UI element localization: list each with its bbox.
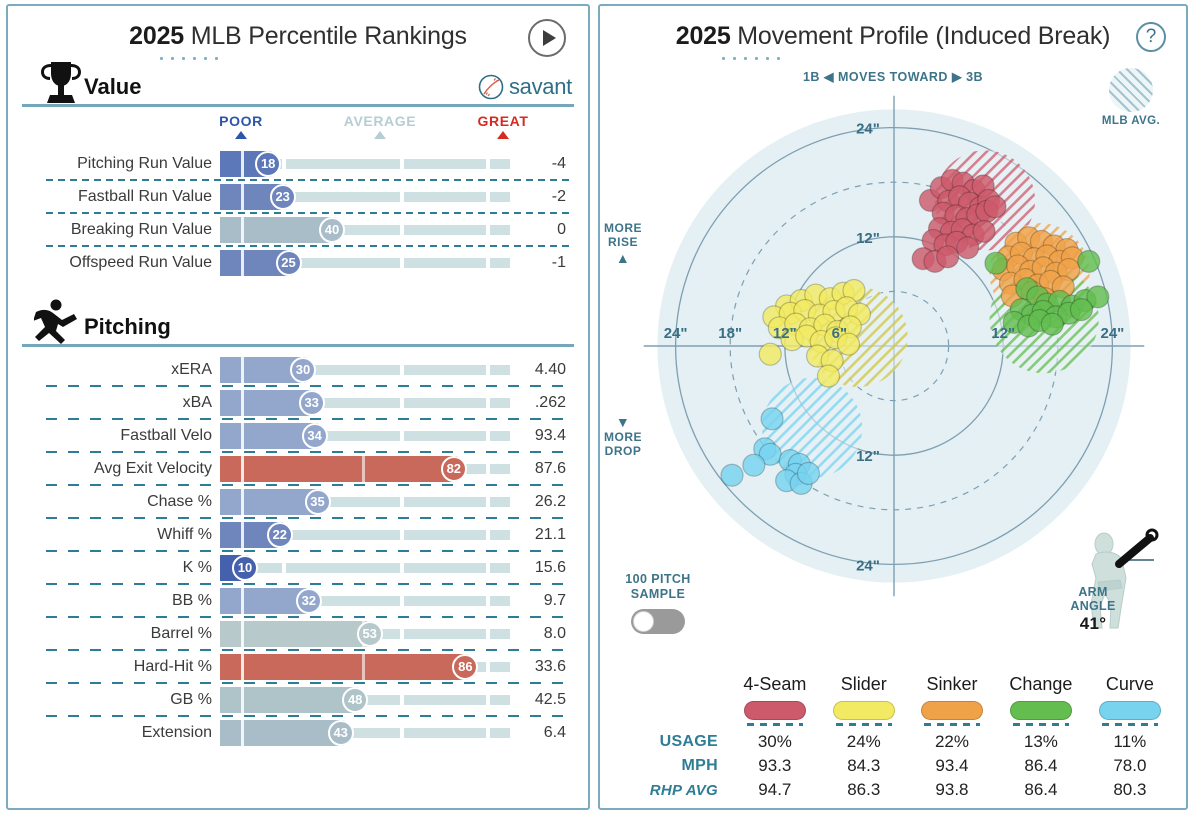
left-panel-header: 2025 MLB Percentile Rankings (8, 6, 588, 61)
metric-bar: 23 (220, 184, 510, 210)
percentile-badge: 40 (319, 217, 345, 243)
metric-value: 0 (510, 221, 574, 239)
right-arrow-icon: ▶ (952, 70, 962, 84)
svg-text:12": 12" (856, 230, 880, 247)
metric-bar: 22 (220, 522, 510, 548)
metric-label: xBA (8, 394, 220, 412)
movement-scatter-plot[interactable]: 24"18"12"6"12"24"24"12"12"24" MORERISE▲ … (600, 84, 1188, 644)
scale-label-poor: POOR (196, 113, 286, 139)
legend-color-chips-row (612, 699, 1174, 730)
metric-row[interactable]: Whiff %2221.1 (8, 518, 574, 551)
pitch-color-chip[interactable] (744, 701, 806, 720)
metric-bar: 43 (220, 720, 510, 746)
svg-text:24": 24" (856, 121, 880, 138)
legend-rhp_avg-cell: 93.8 (908, 778, 996, 802)
pitch-color-chip[interactable] (921, 701, 983, 720)
bar-fill (220, 720, 345, 746)
player-card: 2025 MLB Percentile Rankings Value (0, 0, 1200, 814)
metric-label: Whiff % (8, 526, 220, 544)
legend-mph-cell: 86.4 (996, 754, 1086, 778)
percentile-badge: 30 (290, 357, 316, 383)
metric-bar: 48 (220, 687, 510, 713)
metric-label: Offspeed Run Value (8, 254, 220, 272)
metric-bar: 35 (220, 489, 510, 515)
movement-title: 2025 Movement Profile (Induced Break) (600, 22, 1186, 51)
legend-chip-cell (730, 699, 820, 730)
percentile-badge: 25 (276, 250, 302, 276)
pitch-sample-label: 100 PITCHSAMPLE (606, 572, 710, 603)
legend-mph-cell: 84.3 (820, 754, 908, 778)
percentile-badge: 53 (357, 621, 383, 647)
percentile-badge: 18 (255, 151, 281, 177)
svg-text:18": 18" (718, 325, 742, 342)
scale-label-great: GREAT (458, 113, 548, 139)
legend-row-header: MPH (612, 754, 730, 778)
metric-value: .262 (510, 394, 574, 412)
great-marker-icon (497, 131, 509, 139)
metric-value: -2 (510, 188, 574, 206)
svg-text:6": 6" (832, 325, 847, 342)
chip-dash-divider (924, 723, 980, 726)
legend-pitch-names-row: 4-SeamSliderSinkerChangeCurve (612, 672, 1174, 699)
metric-bar: 82 (220, 456, 510, 482)
chip-dash-divider (1102, 723, 1158, 726)
percentile-badge: 10 (232, 555, 258, 581)
svg-text:24": 24" (1101, 325, 1125, 342)
metric-row[interactable]: Offspeed Run Value25-1 (8, 246, 574, 279)
play-animation-button[interactable] (528, 19, 566, 57)
percentile-badge: 43 (328, 720, 354, 746)
metric-label: Breaking Run Value (8, 221, 220, 239)
third-base-label: 3B (966, 70, 983, 84)
scale-label-average: AVERAGE (335, 113, 425, 139)
metric-value: 42.5 (510, 691, 574, 709)
metric-row[interactable]: Pitching Run Value18-4 (8, 147, 574, 180)
help-button[interactable]: ? (1136, 22, 1166, 52)
poor-marker-icon (235, 131, 247, 139)
legend-usage-cell: 11% (1086, 730, 1174, 754)
metric-bar: 53 (220, 621, 510, 647)
title-year: 2025 (129, 22, 184, 50)
metric-value: 9.7 (510, 592, 574, 610)
svg-text:24": 24" (856, 557, 880, 574)
legend-pitch-name: Curve (1086, 672, 1174, 699)
legend-mph-row: MPH93.384.393.486.478.0 (612, 754, 1174, 778)
legend-usage-row: USAGE30%24%22%13%11% (612, 730, 1174, 754)
metric-value: 33.6 (510, 658, 574, 676)
metric-bar: 10 (220, 555, 510, 581)
legend-chip-cell (908, 699, 996, 730)
legend-usage-cell: 13% (996, 730, 1086, 754)
metric-bar: 40 (220, 217, 510, 243)
section-header-pitching: Pitching (22, 301, 574, 347)
metric-value: 93.4 (510, 427, 574, 445)
savant-logo: savant (478, 74, 572, 100)
metric-value: 4.40 (510, 361, 574, 379)
legend-usage-cell: 22% (908, 730, 996, 754)
percentile-badge: 35 (305, 489, 331, 515)
metric-bar: 34 (220, 423, 510, 449)
metric-row[interactable]: Breaking Run Value400 (8, 213, 574, 246)
legend-chip-cell (996, 699, 1086, 730)
metric-row[interactable]: Fastball Velo3493.4 (8, 419, 574, 452)
more-drop-label: ▼MOREDROP (604, 414, 642, 458)
metric-label: Barrel % (8, 625, 220, 643)
page-title: 2025 MLB Percentile Rankings (8, 22, 588, 51)
metric-row[interactable]: Avg Exit Velocity8287.6 (8, 452, 574, 485)
legend-mph-cell: 93.4 (908, 754, 996, 778)
metric-row[interactable]: xERA304.40 (8, 353, 574, 386)
metric-label: Extension (8, 724, 220, 742)
chip-dash-divider (836, 723, 892, 726)
more-rise-label: MORERISE▲ (604, 222, 642, 266)
bar-track (220, 563, 510, 573)
baseball-icon (478, 74, 504, 100)
metric-label: BB % (8, 592, 220, 610)
pitch-color-chip[interactable] (1099, 701, 1161, 720)
section-title-value: Value (84, 74, 141, 104)
legend-mph-cell: 93.3 (730, 754, 820, 778)
legend-usage-cell: 30% (730, 730, 820, 754)
metric-bar: 33 (220, 390, 510, 416)
arm-angle-figure: ARMANGLE41° (1062, 520, 1182, 640)
movement-title-dots-decoration (718, 56, 788, 61)
legend-chip-rowhdr (612, 699, 730, 730)
metric-value: -4 (510, 155, 574, 173)
title-text: MLB Percentile Rankings (184, 22, 467, 50)
legend-mph-cell: 78.0 (1086, 754, 1174, 778)
metric-label: Fastball Velo (8, 427, 220, 445)
metric-value: 8.0 (510, 625, 574, 643)
metric-row[interactable]: Hard-Hit %8633.6 (8, 650, 574, 683)
toggle-knob (633, 611, 654, 632)
metric-value: 21.1 (510, 526, 574, 544)
metric-row[interactable]: Chase %3526.2 (8, 485, 574, 518)
first-base-label: 1B (803, 70, 820, 84)
percentile-badge: 86 (452, 654, 478, 680)
legend-chip-cell (820, 699, 908, 730)
legend-rhp_avg-cell: 94.7 (730, 778, 820, 802)
metric-row[interactable]: GB %4842.5 (8, 683, 574, 716)
metric-row[interactable]: Fastball Run Value23-2 (8, 180, 574, 213)
pitch-color-chip[interactable] (1010, 701, 1072, 720)
metric-row[interactable]: K %1015.6 (8, 551, 574, 584)
legend-pitch-name: Sinker (908, 672, 996, 699)
movement-profile-panel: 2025 Movement Profile (Induced Break) ? … (598, 4, 1188, 810)
percentile-badge: 34 (302, 423, 328, 449)
legend-pitch-name: Change (996, 672, 1086, 699)
metric-row[interactable]: xBA33.262 (8, 386, 574, 419)
pitcher-icon (34, 296, 88, 348)
legend-usage-cell: 24% (820, 730, 908, 754)
section-title-pitching: Pitching (84, 314, 171, 344)
legend-rhp-avg-row: RHP AVG94.786.393.886.480.3 (612, 778, 1174, 802)
pitch-legend-table: 4-SeamSliderSinkerChangeCurve USAGE30%24… (600, 672, 1186, 802)
legend-rhp_avg-cell: 86.3 (820, 778, 908, 802)
moves-toward-text: MOVES TOWARD (838, 70, 948, 84)
metric-label: xERA (8, 361, 220, 379)
metric-bar: 25 (220, 250, 510, 276)
legend-pitch-name: Slider (820, 672, 908, 699)
legend-chip-cell (1086, 699, 1174, 730)
svg-text:12": 12" (991, 325, 1015, 342)
movement-title-text: Movement Profile (Induced Break) (731, 22, 1111, 50)
chip-dash-divider (747, 723, 803, 726)
movement-title-year: 2025 (676, 22, 731, 50)
metric-label: K % (8, 559, 220, 577)
percentile-rankings-panel: 2025 MLB Percentile Rankings Value (6, 4, 590, 810)
pitch-sample-toggle-group[interactable]: 100 PITCHSAMPLE (606, 572, 710, 634)
svg-text:12": 12" (773, 325, 797, 342)
bar-fill (220, 687, 359, 713)
bar-fill (220, 621, 374, 647)
percentile-badge: 22 (267, 522, 293, 548)
legend-row-header: RHP AVG (612, 778, 730, 802)
percentile-badge: 23 (270, 184, 296, 210)
legend-rhp_avg-cell: 86.4 (996, 778, 1086, 802)
legend-rhp_avg-cell: 80.3 (1086, 778, 1174, 802)
metric-label: Avg Exit Velocity (8, 460, 220, 478)
percentile-badge: 82 (441, 456, 467, 482)
legend-corner-cell (612, 672, 730, 699)
metric-value: 6.4 (510, 724, 574, 742)
bar-fill (220, 456, 458, 482)
metric-label: GB % (8, 691, 220, 709)
metric-label: Chase % (8, 493, 220, 511)
legend-row-header: USAGE (612, 730, 730, 754)
percentile-scale-legend: POOR AVERAGE GREAT (8, 113, 574, 147)
percentile-badge: 48 (342, 687, 368, 713)
section-header-value: Value savant (22, 61, 574, 107)
percentile-badge: 33 (299, 390, 325, 416)
metric-label: Fastball Run Value (8, 188, 220, 206)
trophy-icon (34, 56, 88, 108)
left-arrow-icon: ◀ (824, 70, 834, 84)
metric-row[interactable]: BB %329.7 (8, 584, 574, 617)
average-marker-icon (374, 131, 386, 139)
metric-value: 26.2 (510, 493, 574, 511)
chip-dash-divider (1013, 723, 1069, 726)
percentile-badge: 32 (296, 588, 322, 614)
arm-angle-value: 41° (1062, 614, 1124, 634)
value-metric-list: Pitching Run Value18-4Fastball Run Value… (8, 147, 588, 279)
savant-wordmark: savant (509, 74, 572, 100)
metric-bar: 18 (220, 151, 510, 177)
svg-text:12": 12" (856, 448, 880, 465)
metric-bar: 86 (220, 654, 510, 680)
metric-bar: 30 (220, 357, 510, 383)
legend-pitch-name: 4-Seam (730, 672, 820, 699)
svg-text:24": 24" (664, 325, 688, 342)
metric-label: Pitching Run Value (8, 155, 220, 173)
pitching-metric-list: xERA304.40xBA33.262Fastball Velo3493.4Av… (8, 353, 588, 749)
metric-value: -1 (510, 254, 574, 272)
right-panel-header: 2025 Movement Profile (Induced Break) ? (600, 6, 1186, 61)
metric-label: Hard-Hit % (8, 658, 220, 676)
metric-value: 15.6 (510, 559, 574, 577)
pitch-sample-toggle[interactable] (631, 609, 685, 634)
metric-row[interactable]: Extension436.4 (8, 716, 574, 749)
pitch-color-chip[interactable] (833, 701, 895, 720)
play-icon (543, 30, 556, 46)
arm-angle-readout: ARMANGLE41° (1062, 585, 1124, 634)
metric-value: 87.6 (510, 460, 574, 478)
bar-fill (220, 654, 469, 680)
metric-row[interactable]: Barrel %538.0 (8, 617, 574, 650)
metric-bar: 32 (220, 588, 510, 614)
